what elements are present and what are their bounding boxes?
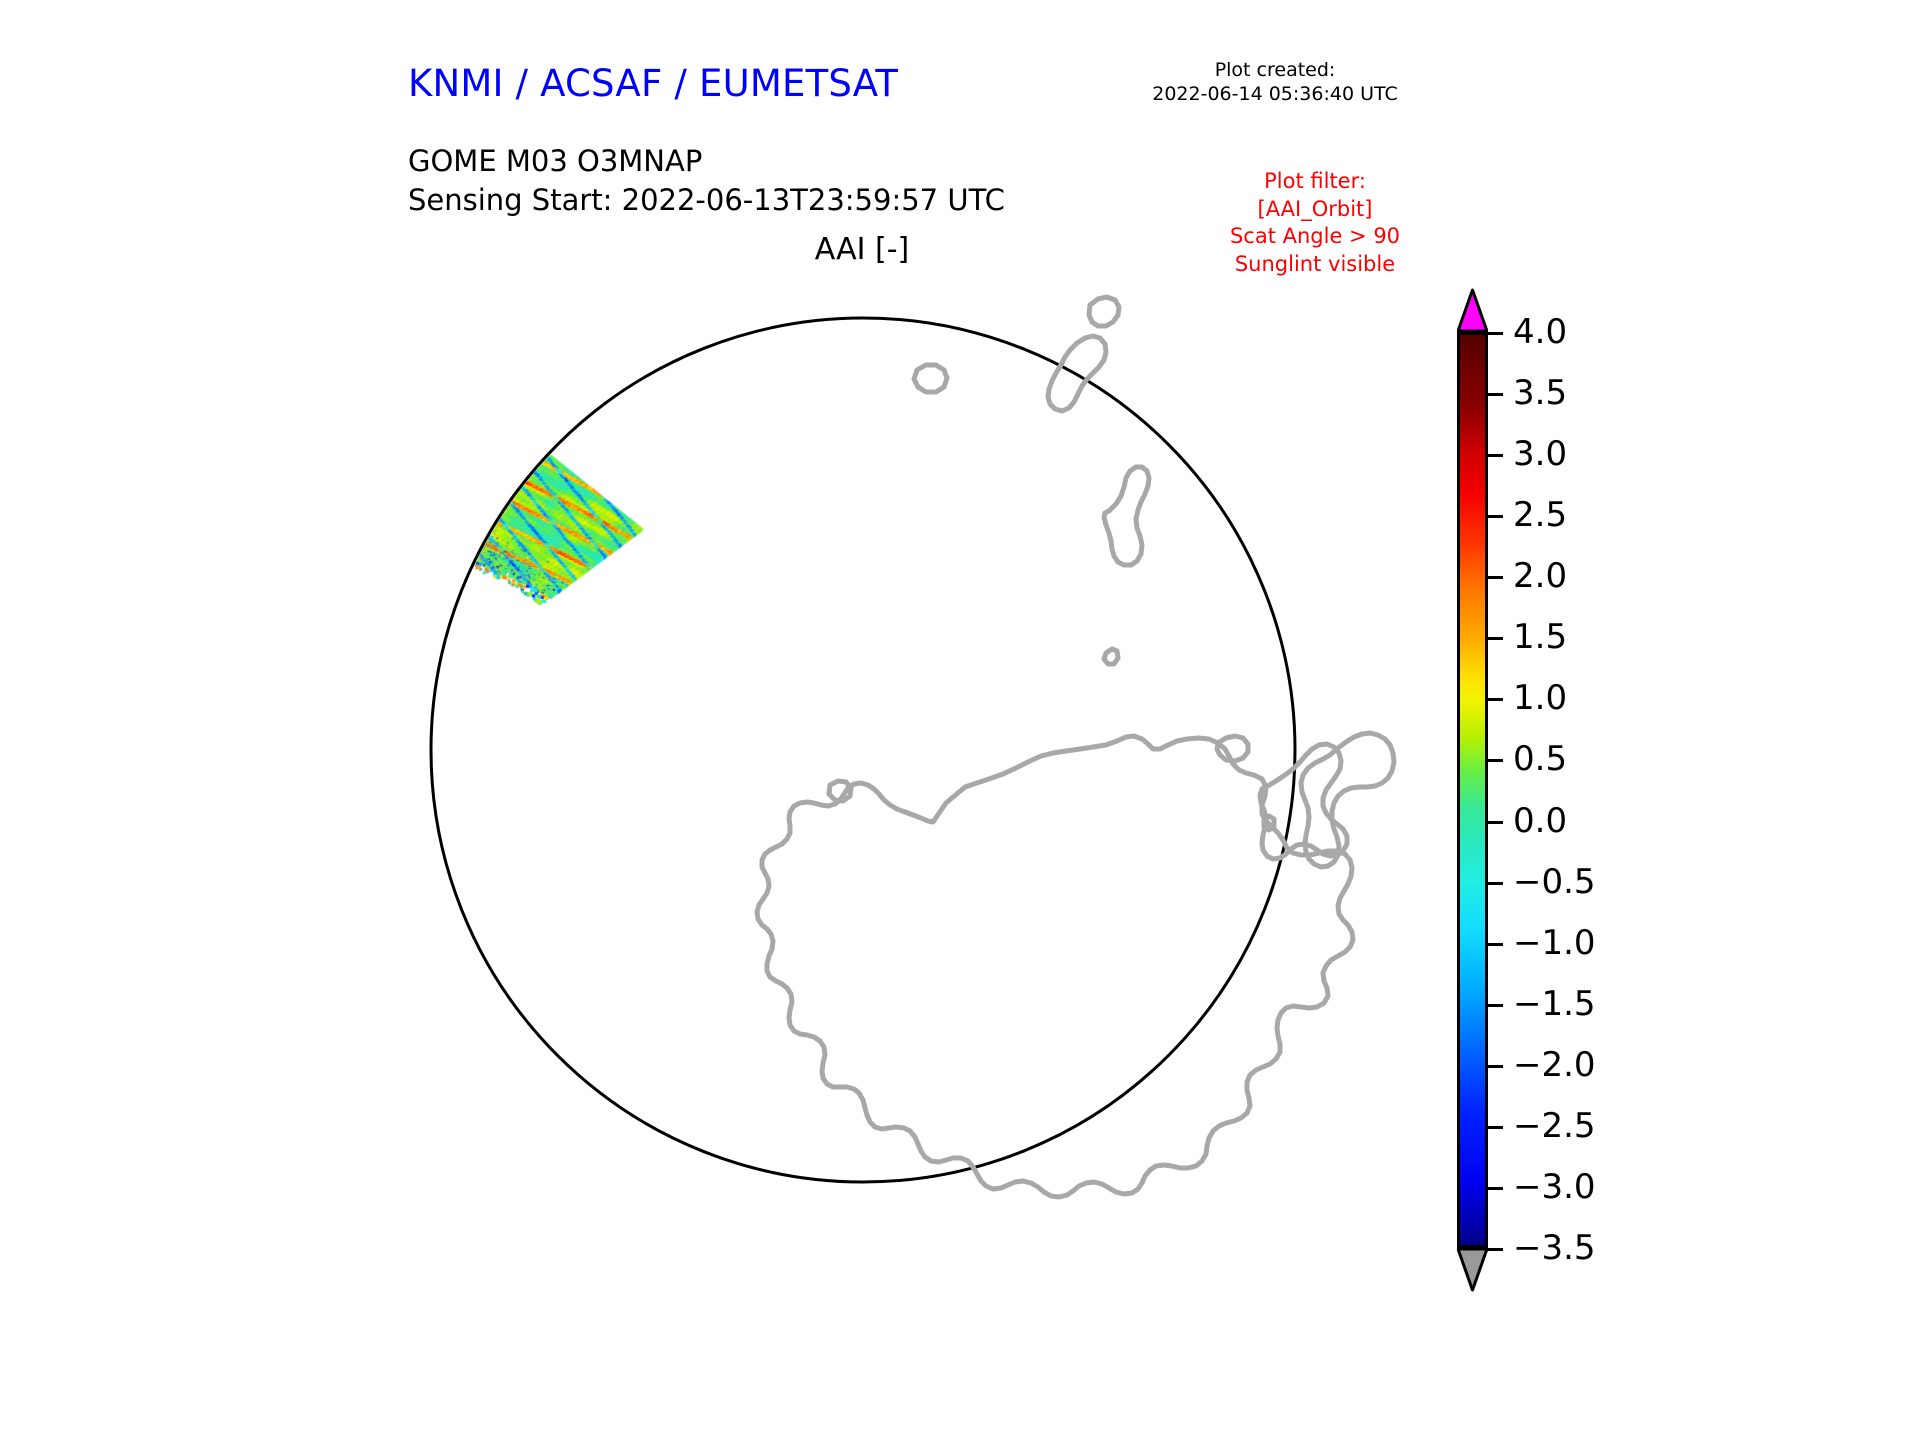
page-title: AAI [-] [612,232,1112,267]
colorbar-tick-label: −2.0 [1513,1045,1596,1085]
filter-line-3: Scat Angle > 90 [1170,223,1460,251]
coastline-path [914,365,947,392]
colorbar-tick-label: −0.5 [1513,862,1596,902]
colorbar-tick-label: −3.0 [1513,1167,1596,1207]
colorbar-tick [1488,393,1503,396]
plot-created-time: 2022-06-14 05:36:40 UTC [1100,82,1450,106]
organisation-title: KNMI / ACSAF / EUMETSAT [408,62,898,105]
colorbar-under-range-arrow [1457,1248,1488,1292]
globe-boundary-circle [431,318,1295,1182]
colorbar-tick-label: 3.5 [1513,373,1567,413]
filter-line-2: [AAI_Orbit] [1170,196,1460,224]
coastline-group [757,297,1394,1197]
colorbar-over-range-arrow [1457,288,1488,332]
plot-created-block: Plot created: 2022-06-14 05:36:40 UTC [1100,58,1450,107]
colorbar-tick-label: 2.5 [1513,495,1567,535]
coastline-path [1089,297,1119,326]
product-info-block: GOME M03 O3MNAP Sensing Start: 2022-06-1… [408,142,1005,219]
colorbar-tick-label: 2.0 [1513,556,1567,596]
colorbar-tick-label: −2.5 [1513,1106,1596,1146]
colorbar-tick [1488,515,1503,518]
coastline-path [1104,649,1118,664]
colorbar-tick [1488,1187,1503,1190]
colorbar-tick-label: −3.5 [1513,1228,1596,1268]
colorbar-tick-label: 1.0 [1513,678,1567,718]
colorbar-tick [1488,821,1503,824]
colorbar-tick [1488,1248,1503,1251]
colorbar-tick [1488,637,1503,640]
filter-line-4: Sunglint visible [1170,251,1460,279]
map-vector-overlay [390,275,1410,1305]
colorbar-tick-label: 0.5 [1513,739,1567,779]
coastline-path [1104,467,1149,565]
colorbar-tick [1488,332,1503,335]
colorbar-gradient [1457,332,1488,1248]
colorbar-tick-label: −1.5 [1513,984,1596,1024]
colorbar-tick [1488,943,1503,946]
sensing-start: Sensing Start: 2022-06-13T23:59:57 UTC [408,181,1005,220]
plot-filter-block: Plot filter: [AAI_Orbit] Scat Angle > 90… [1170,168,1460,278]
colorbar-tick [1488,454,1503,457]
colorbar-tick [1488,698,1503,701]
colorbar-tick-label: 3.0 [1513,434,1567,474]
map-plot-area [390,275,1410,1305]
plot-created-label: Plot created: [1100,58,1450,82]
colorbar-tick-label: 1.5 [1513,617,1567,657]
colorbar-tick [1488,882,1503,885]
colorbar-tick [1488,1004,1503,1007]
colorbar: 4.03.53.02.52.01.51.00.50.0−0.5−1.0−1.5−… [1447,282,1687,1302]
colorbar-tick [1488,1126,1503,1129]
colorbar-tick [1488,759,1503,762]
colorbar-tick-label: −1.0 [1513,923,1596,963]
colorbar-tick-label: 0.0 [1513,801,1567,841]
product-name: GOME M03 O3MNAP [408,142,1005,181]
colorbar-tick [1488,576,1503,579]
filter-line-1: Plot filter: [1170,168,1460,196]
colorbar-tick [1488,1065,1503,1068]
colorbar-tick-label: 4.0 [1513,312,1567,352]
